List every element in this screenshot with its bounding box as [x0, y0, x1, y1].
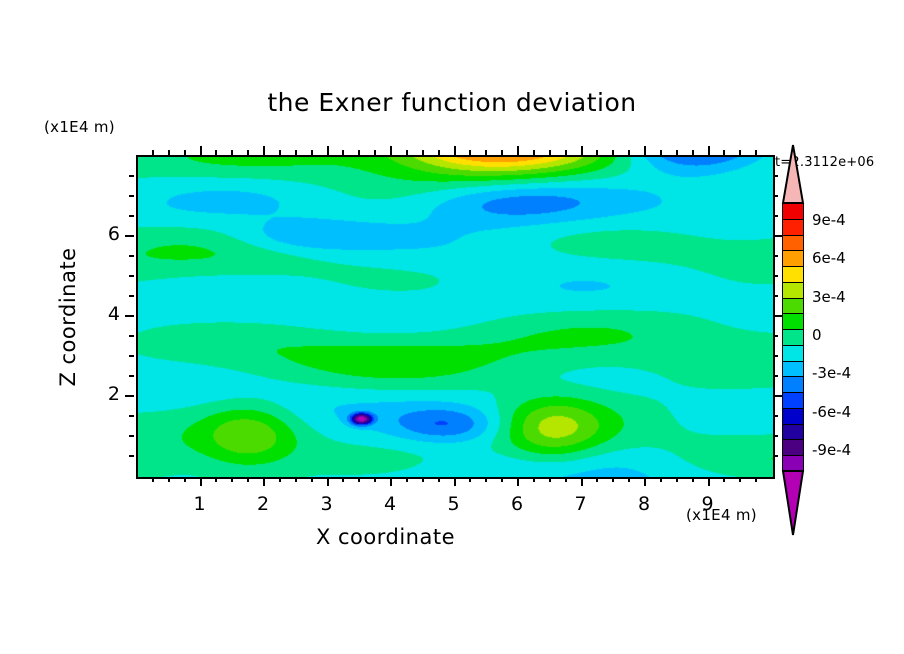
- x-tick-top: [676, 150, 678, 155]
- x-tick-bottom: [612, 477, 614, 482]
- x-tick-bottom: [723, 477, 725, 482]
- x-tick-bottom: [596, 477, 598, 482]
- x-tick-bottom: [739, 477, 741, 482]
- x-tick-top: [723, 150, 725, 155]
- x-tick-bottom: [422, 477, 424, 482]
- y-tick-right: [773, 435, 778, 437]
- y-tick-right: [773, 375, 778, 377]
- x-tick-bottom: [247, 477, 249, 482]
- x-axis-title: X coordinate: [0, 525, 771, 549]
- x-tick-label: 9: [693, 493, 723, 515]
- x-tick-bottom: [327, 477, 329, 486]
- x-tick-top: [708, 146, 710, 155]
- y-tick-left: [125, 235, 134, 237]
- y-tick-right: [773, 215, 778, 217]
- x-tick-bottom: [358, 477, 360, 482]
- x-tick-top: [184, 150, 186, 155]
- x-tick-label: 5: [439, 493, 469, 515]
- x-tick-bottom: [184, 477, 186, 482]
- contour-plot-area: [136, 155, 775, 479]
- y-tick-left: [125, 395, 134, 397]
- x-tick-top: [454, 146, 456, 155]
- x-tick-top: [358, 150, 360, 155]
- y-tick-left: [125, 315, 134, 317]
- x-tick-bottom: [215, 477, 217, 482]
- x-tick-bottom: [755, 477, 757, 482]
- x-tick-bottom: [438, 477, 440, 482]
- colorbar-tick-label: 6e-4: [812, 249, 846, 267]
- x-tick-top: [279, 150, 281, 155]
- x-tick-bottom: [708, 477, 710, 486]
- x-tick-top: [231, 150, 233, 155]
- y-tick-left: [129, 215, 134, 217]
- x-tick-top: [596, 150, 598, 155]
- x-tick-bottom: [676, 477, 678, 482]
- x-tick-label: 8: [629, 493, 659, 515]
- x-tick-label: 6: [502, 493, 532, 515]
- y-tick-left: [129, 435, 134, 437]
- x-tick-bottom: [311, 477, 313, 482]
- y-tick-left: [129, 375, 134, 377]
- x-tick-top: [612, 150, 614, 155]
- x-tick-bottom: [469, 477, 471, 482]
- colorbar-cap-high-icon: [783, 145, 803, 203]
- x-tick-bottom: [517, 477, 519, 486]
- y-tick-left: [129, 195, 134, 197]
- x-tick-top: [644, 146, 646, 155]
- x-tick-bottom: [501, 477, 503, 482]
- x-tick-top: [295, 150, 297, 155]
- x-tick-bottom: [390, 477, 392, 486]
- x-tick-bottom: [200, 477, 202, 486]
- colorbar-tick-label: -9e-4: [812, 441, 851, 459]
- x-tick-bottom: [549, 477, 551, 482]
- x-tick-top: [549, 150, 551, 155]
- y-tick-left: [129, 175, 134, 177]
- colorbar-tick-label: -6e-4: [812, 403, 851, 421]
- y-tick-right: [773, 415, 778, 417]
- colorbar-tick-label: 9e-4: [812, 211, 846, 229]
- colorbar: 9e-46e-43e-40-3e-4-6e-4-9e-4: [782, 203, 804, 471]
- y-axis-units-label: (x1E4 m): [44, 118, 115, 136]
- x-tick-bottom: [374, 477, 376, 482]
- y-tick-right: [773, 455, 778, 457]
- x-tick-bottom: [263, 477, 265, 486]
- y-tick-right: [773, 275, 778, 277]
- x-tick-top: [581, 146, 583, 155]
- x-tick-top: [342, 150, 344, 155]
- x-tick-top: [517, 146, 519, 155]
- x-tick-top: [469, 150, 471, 155]
- x-tick-top: [438, 150, 440, 155]
- y-tick-label: 6: [90, 223, 120, 245]
- x-tick-top: [390, 146, 392, 155]
- x-tick-top: [311, 150, 313, 155]
- y-tick-left: [129, 455, 134, 457]
- x-tick-bottom: [406, 477, 408, 482]
- y-tick-right: [773, 355, 778, 357]
- x-tick-label: 1: [185, 493, 215, 515]
- x-tick-bottom: [644, 477, 646, 486]
- colorbar-caps: [781, 143, 805, 543]
- y-axis-title: Z coordinate: [56, 207, 80, 427]
- y-tick-left: [129, 255, 134, 257]
- x-tick-bottom: [565, 477, 567, 482]
- x-tick-top: [533, 150, 535, 155]
- y-tick-left: [129, 355, 134, 357]
- x-tick-top: [200, 146, 202, 155]
- x-tick-top: [168, 150, 170, 155]
- x-tick-top: [739, 150, 741, 155]
- x-tick-top: [565, 150, 567, 155]
- colorbar-tick-label: 0: [812, 326, 822, 344]
- x-tick-bottom: [279, 477, 281, 482]
- x-tick-top: [215, 150, 217, 155]
- y-tick-right: [773, 255, 778, 257]
- y-tick-left: [129, 335, 134, 337]
- x-tick-top: [374, 150, 376, 155]
- x-tick-top: [692, 150, 694, 155]
- x-tick-bottom: [485, 477, 487, 482]
- x-tick-top: [152, 150, 154, 155]
- x-tick-top: [660, 150, 662, 155]
- y-tick-right: [773, 175, 778, 177]
- x-tick-top: [485, 150, 487, 155]
- x-tick-label: 3: [312, 493, 342, 515]
- x-tick-top: [628, 150, 630, 155]
- y-tick-left: [129, 275, 134, 277]
- y-tick-right: [773, 335, 778, 337]
- y-tick-left: [129, 415, 134, 417]
- x-tick-top: [263, 146, 265, 155]
- y-tick-right: [773, 195, 778, 197]
- x-tick-bottom: [581, 477, 583, 486]
- x-tick-bottom: [295, 477, 297, 482]
- y-tick-label: 2: [90, 383, 120, 405]
- x-tick-bottom: [168, 477, 170, 482]
- x-tick-bottom: [454, 477, 456, 486]
- x-tick-bottom: [342, 477, 344, 482]
- x-tick-top: [406, 150, 408, 155]
- x-tick-label: 4: [375, 493, 405, 515]
- contour-field-canvas: [138, 157, 773, 477]
- y-tick-label: 4: [90, 303, 120, 325]
- x-tick-bottom: [628, 477, 630, 482]
- x-tick-bottom: [533, 477, 535, 482]
- y-tick-right: [773, 295, 778, 297]
- x-tick-bottom: [152, 477, 154, 482]
- x-tick-label: 7: [566, 493, 596, 515]
- x-tick-top: [755, 150, 757, 155]
- page-title: the Exner function deviation: [0, 88, 904, 117]
- x-tick-top: [247, 150, 249, 155]
- colorbar-cap-low-icon: [783, 471, 803, 535]
- x-tick-top: [327, 146, 329, 155]
- x-tick-bottom: [660, 477, 662, 482]
- x-tick-top: [501, 150, 503, 155]
- y-tick-left: [129, 295, 134, 297]
- colorbar-tick-label: -3e-4: [812, 364, 851, 382]
- colorbar-tick-label: 3e-4: [812, 288, 846, 306]
- x-tick-bottom: [692, 477, 694, 482]
- x-tick-label: 2: [248, 493, 278, 515]
- x-tick-top: [422, 150, 424, 155]
- x-tick-bottom: [231, 477, 233, 482]
